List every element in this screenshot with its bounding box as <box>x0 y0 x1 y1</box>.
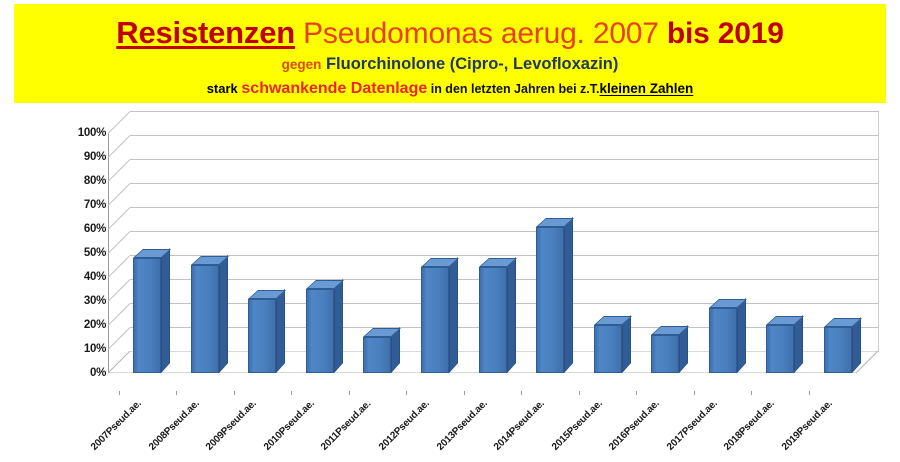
bar-front-face <box>824 327 852 373</box>
gridline-depth-riser <box>108 183 131 206</box>
x-axis-tick <box>636 391 637 395</box>
gridline-depth-riser <box>108 303 131 326</box>
gridline-depth-riser <box>108 111 131 134</box>
bar-side-face <box>507 257 516 373</box>
gridline <box>130 255 878 256</box>
bar <box>766 325 804 373</box>
gridline <box>130 183 878 184</box>
gridline <box>130 207 878 208</box>
bar <box>133 258 171 373</box>
bar-front-face <box>594 325 622 373</box>
bar <box>536 227 574 373</box>
title-antibiotic-class: Fluorchinolone (Cipro-, Levofloxazin) <box>321 55 618 73</box>
bar <box>479 267 517 373</box>
title-keyword-resistenzen: Resistenzen <box>116 15 295 50</box>
bar-front-face <box>651 335 679 373</box>
bar-front-face <box>421 267 449 373</box>
x-axis-tick-label: 2014Pseud.ae. <box>492 398 547 453</box>
x-axis-tick <box>809 391 810 395</box>
bar-side-face <box>161 248 170 373</box>
bar-front-face <box>248 299 276 373</box>
gridline-depth-riser <box>108 159 131 182</box>
gridline-depth-riser <box>108 207 131 230</box>
title-line-secondary: gegen Fluorchinolone (Cipro-, Levofloxaz… <box>14 56 886 73</box>
title-line-note: stark schwankende Datenlage in den letzt… <box>14 81 886 97</box>
bar-front-face <box>709 308 737 373</box>
note-highlight: schwankende Datenlage <box>241 80 427 97</box>
bar-chart: 100%90%80%70%60%50%40%30%20%10%0% 2007Ps… <box>0 103 900 462</box>
y-axis-tick-label: 90% <box>46 151 106 163</box>
x-axis-tick-label: 2015Pseud.ae. <box>550 398 605 453</box>
y-axis-tick-label: 40% <box>46 271 106 283</box>
bar <box>191 265 229 373</box>
title-line-primary: Resistenzen Pseudomonas aerug. 2007 bis … <box>14 17 886 49</box>
y-axis-tick-label: 100% <box>46 127 106 139</box>
y-axis-tick-label: 80% <box>46 175 106 187</box>
x-axis-tick-label: 2019Pseud.ae. <box>780 398 835 453</box>
bar <box>248 299 286 373</box>
bar <box>824 327 862 373</box>
x-axis-tick-label: 2008Pseud.ae. <box>147 398 202 453</box>
bar <box>421 267 459 373</box>
bar-front-face <box>306 289 334 373</box>
gridline-depth-riser <box>108 327 131 350</box>
bar <box>709 308 747 373</box>
gridline-depth-riser <box>108 135 131 158</box>
bar-side-face <box>564 217 573 373</box>
title-gegen-word: gegen <box>282 57 322 72</box>
title-range-end: bis 2019 <box>667 17 784 50</box>
x-axis-tick-label: 2010Pseud.ae. <box>262 398 317 453</box>
x-axis-tick-label: 2013Pseud.ae. <box>435 398 490 453</box>
title-banner: Resistenzen Pseudomonas aerug. 2007 bis … <box>14 4 886 103</box>
y-axis-tick-label: 30% <box>46 295 106 307</box>
x-axis-tick <box>234 391 235 395</box>
gridline-depth-riser <box>108 279 131 302</box>
bar <box>651 335 689 373</box>
gridline-depth-riser <box>108 255 131 278</box>
x-axis-tick-label: 2012Pseud.ae. <box>377 398 432 453</box>
plot-area <box>108 111 878 391</box>
bar-side-face <box>219 255 228 373</box>
note-body: in den letzten Jahren bei z.T. <box>427 82 599 96</box>
x-axis-tick-label: 2016Pseud.ae. <box>607 398 662 453</box>
y-axis-tick-label: 50% <box>46 247 106 259</box>
x-axis-tick-label: 2009Pseud.ae. <box>204 398 259 453</box>
note-emphasis: kleinen Zahlen <box>600 81 694 96</box>
x-axis-tick <box>349 391 350 395</box>
y-axis-tick-label: 60% <box>46 223 106 235</box>
y-axis-tick-label: 10% <box>46 343 106 355</box>
x-axis-tick <box>291 391 292 395</box>
bar <box>363 337 401 373</box>
bar-side-face <box>794 315 803 373</box>
gridline <box>130 135 878 136</box>
note-stark-word: stark <box>207 81 242 96</box>
y-axis: 100%90%80%70%60%50%40%30%20%10%0% <box>44 103 106 462</box>
x-axis-tick <box>579 391 580 395</box>
title-organism-years: Pseudomonas aerug. 2007 <box>295 17 667 50</box>
bar <box>306 289 344 373</box>
bar <box>594 325 632 373</box>
x-axis-tick <box>406 391 407 395</box>
bar-front-face <box>766 325 794 373</box>
x-axis-tick <box>751 391 752 395</box>
bar-side-face <box>276 289 285 373</box>
x-axis-tick <box>119 391 120 395</box>
bar-side-face <box>449 257 458 373</box>
bar-front-face <box>191 265 219 373</box>
y-axis-tick-label: 20% <box>46 319 106 331</box>
gridline <box>130 231 878 232</box>
gridline <box>130 111 878 112</box>
x-axis-tick <box>176 391 177 395</box>
bar-side-face <box>737 298 746 373</box>
x-axis-tick <box>464 391 465 395</box>
bar-front-face <box>536 227 564 373</box>
y-axis-tick-label: 0% <box>46 367 106 379</box>
x-axis-tick-label: 2011Pseud.ae. <box>319 398 373 452</box>
gridline-depth-riser <box>108 231 131 254</box>
x-axis-tick <box>694 391 695 395</box>
x-axis-tick-label: 2017Pseud.ae. <box>665 398 720 453</box>
bar-side-face <box>334 279 343 373</box>
x-axis-tick <box>521 391 522 395</box>
x-axis-labels: 2007Pseud.ae.2008Pseud.ae.2009Pseud.ae.2… <box>108 395 898 462</box>
gridline <box>130 159 878 160</box>
x-axis-tick-label: 2018Pseud.ae. <box>722 398 777 453</box>
y-axis-tick-label: 70% <box>46 199 106 211</box>
bar-front-face <box>363 337 391 373</box>
bar-front-face <box>133 258 161 373</box>
bar-front-face <box>479 267 507 373</box>
